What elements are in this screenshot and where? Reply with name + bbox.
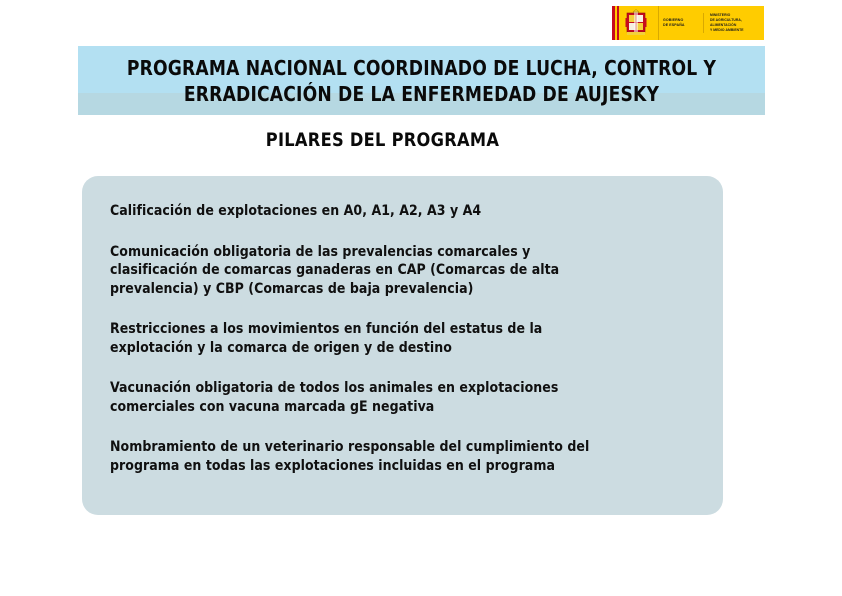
logo-text-block: GOBIERNO DE ESPAÑA MINISTERIO DE AGRICUL… bbox=[658, 6, 764, 40]
pillar-item-vacunacion-obligatoria: Vacunación obligatoria de todos los anim… bbox=[110, 379, 683, 416]
pillar-item-calificacion: Calificación de explotaciones en A0, A1,… bbox=[110, 202, 683, 221]
flag-stripe bbox=[612, 6, 619, 40]
pillar-item-comunicacion-prevalencias: Comunicación obligatoria de las prevalen… bbox=[110, 243, 683, 299]
government-logo: GOBIERNO DE ESPAÑA MINISTERIO DE AGRICUL… bbox=[612, 6, 764, 40]
pillar-item-veterinario-responsable: Nombramiento de un veterinario responsab… bbox=[110, 438, 683, 475]
pillar-item-restricciones-movimientos: Restricciones a los movimientos en funci… bbox=[110, 320, 683, 357]
logo-ministerio-label: MINISTERIO DE AGRICULTURA, ALIMENTACIÓN … bbox=[710, 13, 764, 32]
logo-gobierno-label: GOBIERNO DE ESPAÑA bbox=[663, 18, 697, 28]
spain-flag-icon bbox=[612, 6, 658, 40]
pillars-list: Calificación de explotaciones en A0, A1,… bbox=[110, 202, 701, 475]
logo-divider bbox=[703, 13, 704, 32]
page-title: PROGRAMA NACIONAL COORDINADO DE LUCHA, C… bbox=[102, 46, 741, 107]
coat-of-arms-icon bbox=[625, 9, 647, 37]
pillars-panel: Calificación de explotaciones en A0, A1,… bbox=[82, 176, 723, 515]
title-banner: PROGRAMA NACIONAL COORDINADO DE LUCHA, C… bbox=[78, 46, 765, 115]
section-subtitle: PILARES DEL PROGRAMA bbox=[19, 129, 746, 151]
